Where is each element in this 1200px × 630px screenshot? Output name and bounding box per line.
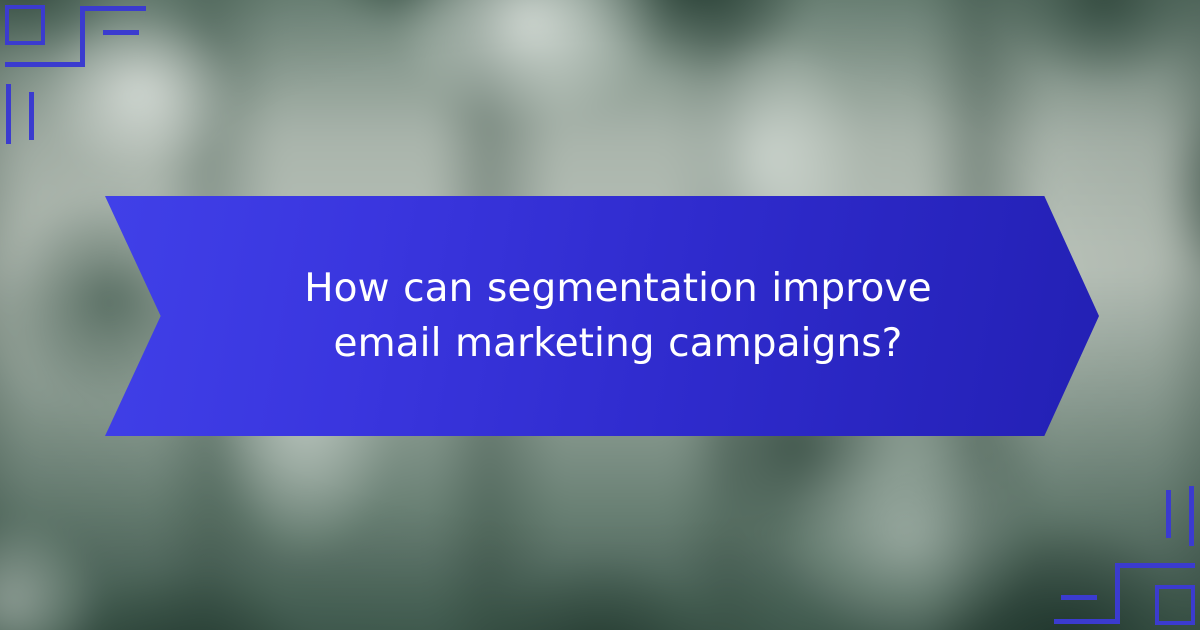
- headline-banner-inner: How can segmentation improve email marke…: [252, 261, 952, 372]
- page-title: How can segmentation improve email marke…: [284, 261, 952, 372]
- share-card-canvas: How can segmentation improve email marke…: [0, 0, 1200, 630]
- headline-banner: How can segmentation improve email marke…: [105, 196, 1099, 436]
